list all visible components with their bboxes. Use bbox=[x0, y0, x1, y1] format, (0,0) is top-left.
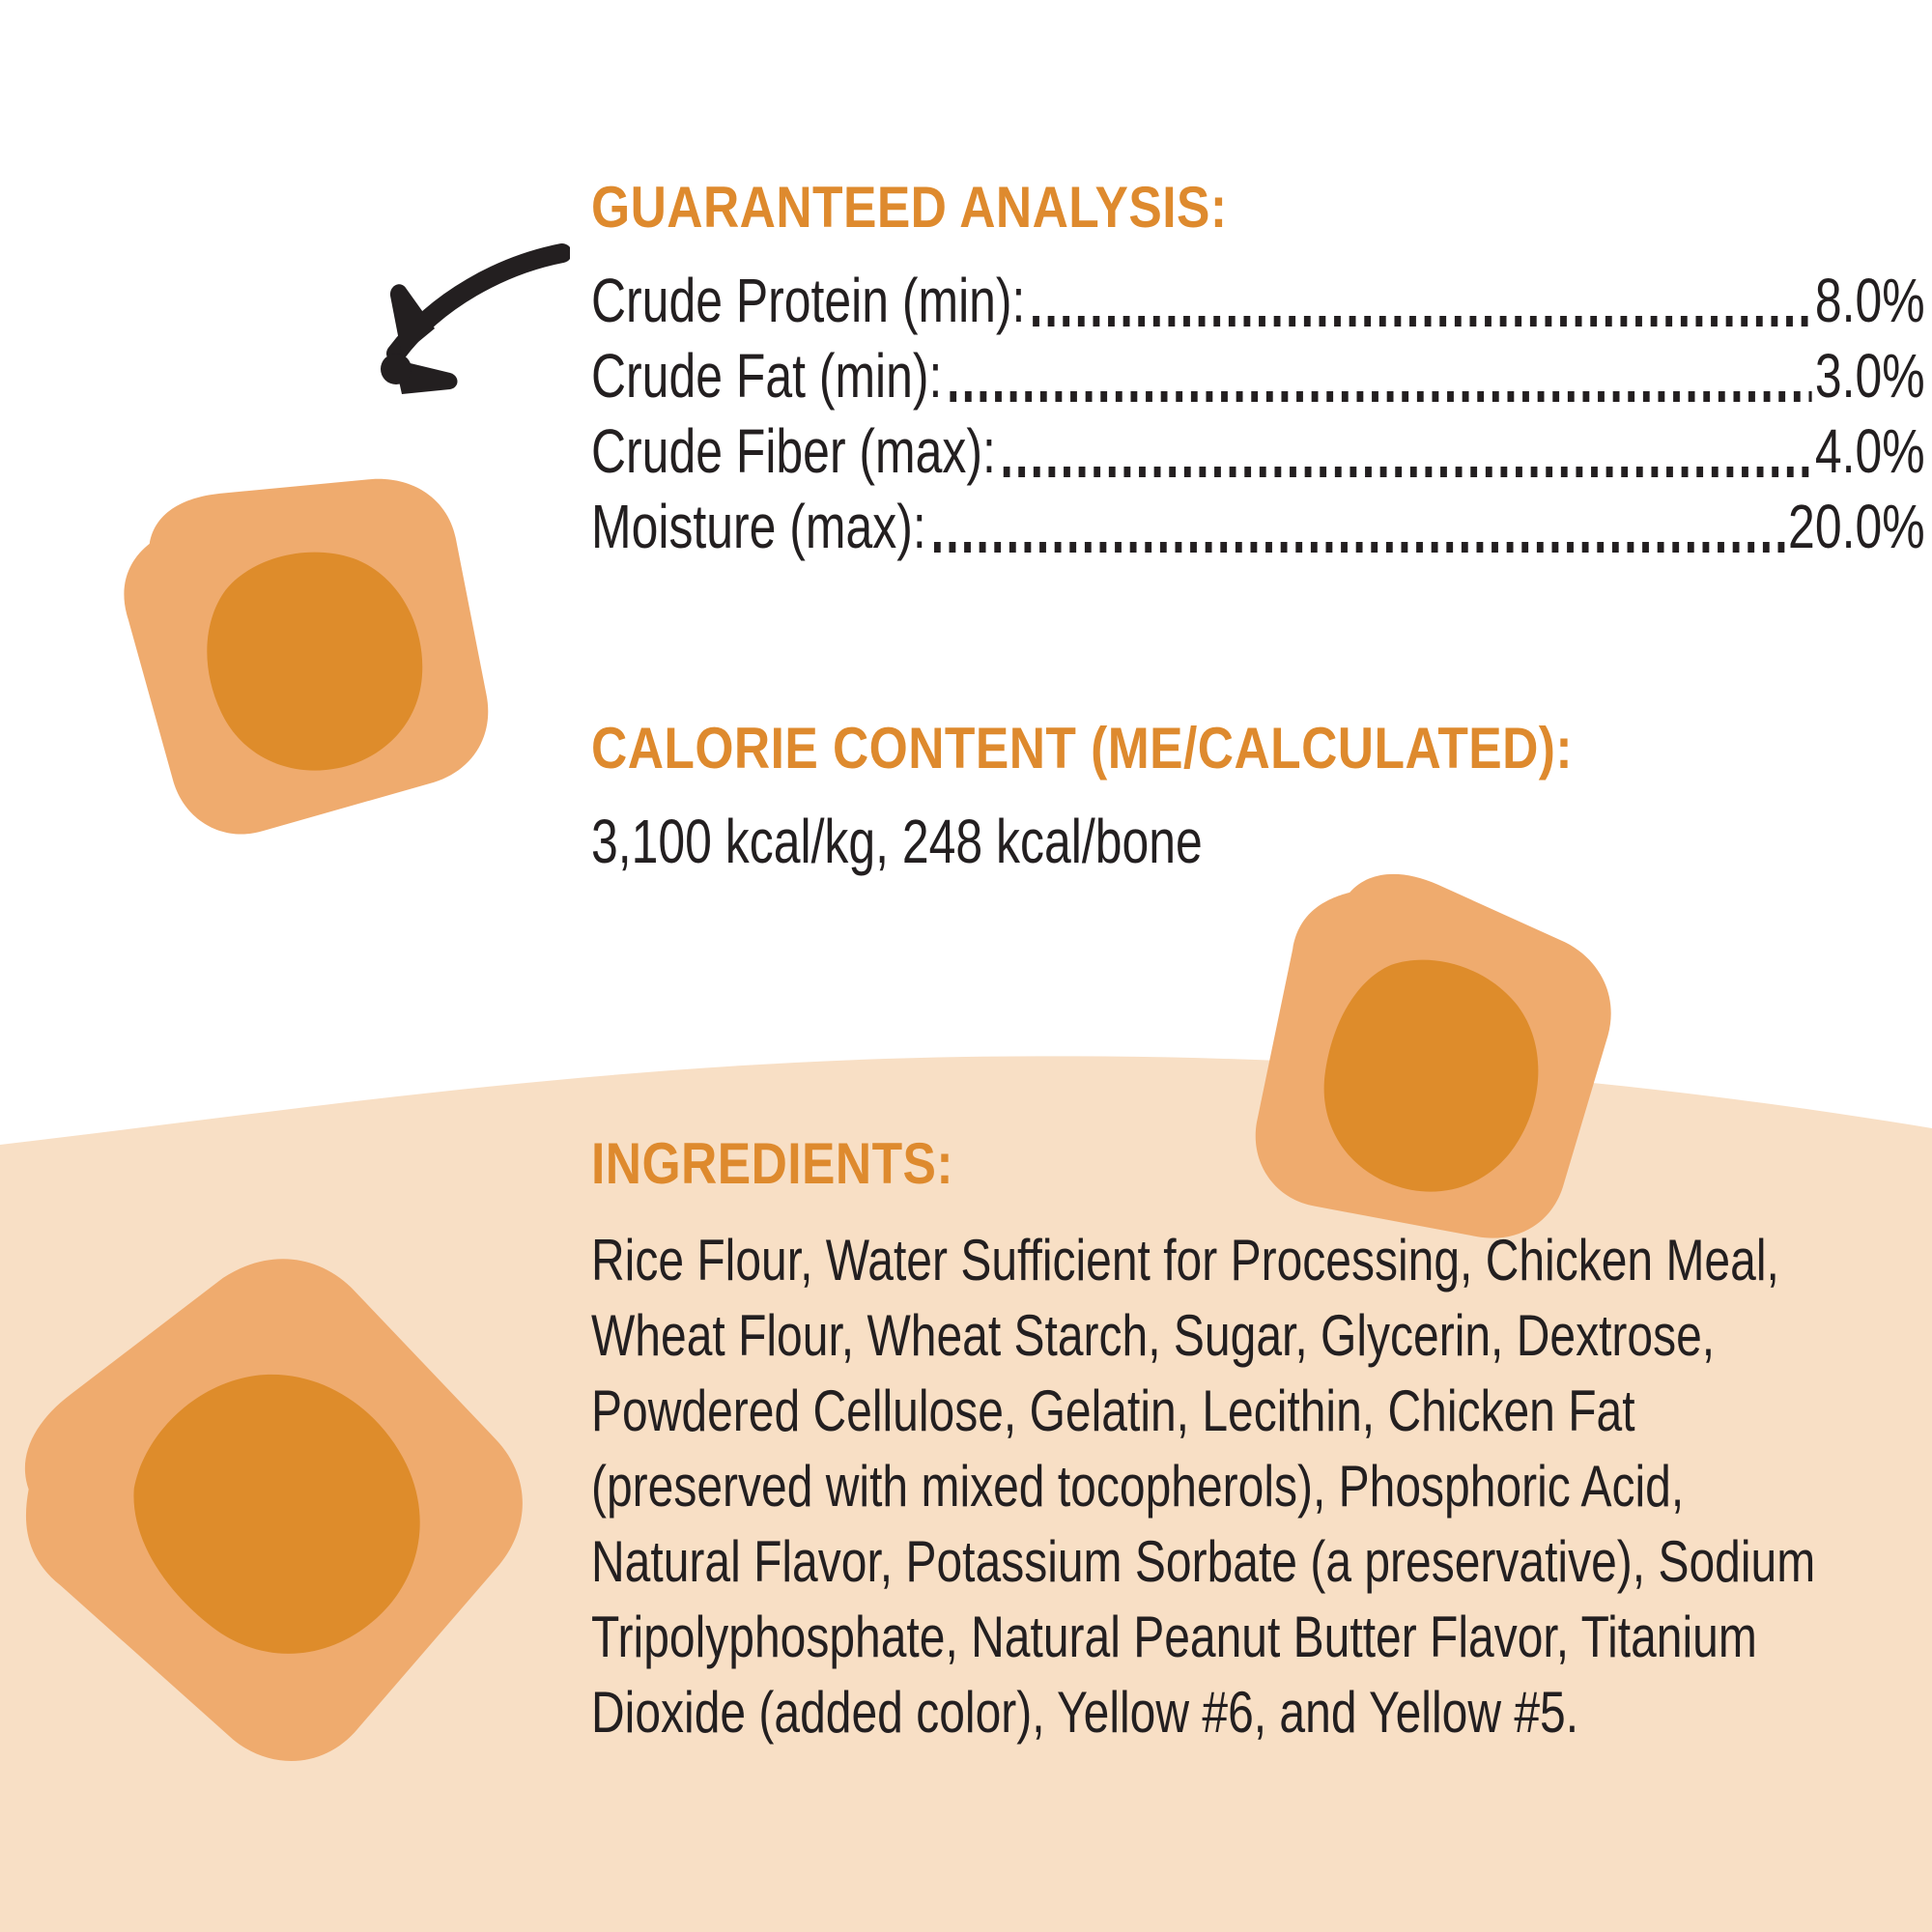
ga-label-crude-fat: Crude Fat (min): bbox=[591, 345, 942, 407]
dot-leader bbox=[1004, 466, 1812, 477]
table-row: Crude Fiber (max): 4.0% bbox=[591, 420, 1925, 496]
calorie-content-section: CALORIE CONTENT (ME/CALCULATED): 3,100 k… bbox=[591, 720, 1905, 872]
curved-arrow-down-left-icon bbox=[309, 240, 570, 433]
ga-value-crude-protein: 8.0% bbox=[1815, 270, 1925, 331]
table-row: Moisture (max): 20.0% bbox=[591, 496, 1925, 571]
dot-leader bbox=[934, 541, 1785, 553]
biscuit-bottom-left bbox=[19, 1256, 560, 1806]
ga-value-crude-fiber: 4.0% bbox=[1815, 420, 1925, 482]
ingredients-text: Rice Flour, Water Sufficient for Process… bbox=[591, 1232, 1905, 1759]
biscuit-top-left bbox=[92, 464, 507, 850]
calorie-content-value: 3,100 kcal/kg, 248 kcal/bone bbox=[591, 810, 1616, 872]
ingredients-line: Tripolyphosphate, Natural Peanut Butter … bbox=[591, 1608, 1642, 1684]
ingredients-line: Dioxide (added color), Yellow #6, and Ye… bbox=[591, 1684, 1642, 1759]
ga-value-crude-fat: 3.0% bbox=[1815, 345, 1925, 407]
ga-label-crude-protein: Crude Protein (min): bbox=[591, 270, 1025, 331]
ingredients-line: Powdered Cellulose, Gelatin, Lecithin, C… bbox=[591, 1382, 1642, 1458]
table-row: Crude Fat (min): 3.0% bbox=[591, 345, 1925, 420]
guaranteed-analysis-section: GUARANTEED ANALYSIS: Crude Protein (min)… bbox=[591, 179, 1876, 571]
ingredients-line: (preserved with mixed tocopherols), Phos… bbox=[591, 1458, 1642, 1533]
guaranteed-analysis-title: GUARANTEED ANALYSIS: bbox=[591, 179, 1696, 237]
guaranteed-analysis-rows: Crude Protein (min): 8.0% Crude Fat (min… bbox=[591, 270, 1876, 571]
dot-leader bbox=[950, 390, 1812, 402]
calorie-content-title: CALORIE CONTENT (ME/CALCULATED): bbox=[591, 720, 1721, 778]
ga-value-moisture: 20.0% bbox=[1788, 496, 1925, 557]
ingredients-title: INGREDIENTS: bbox=[591, 1135, 1721, 1193]
ga-label-crude-fiber: Crude Fiber (max): bbox=[591, 420, 996, 482]
table-row: Crude Protein (min): 8.0% bbox=[591, 270, 1925, 345]
label-panel: GUARANTEED ANALYSIS: Crude Protein (min)… bbox=[0, 0, 1932, 1932]
ingredients-line: Wheat Flour, Wheat Starch, Sugar, Glycer… bbox=[591, 1307, 1642, 1382]
ingredients-line: Rice Flour, Water Sufficient for Process… bbox=[591, 1232, 1642, 1307]
ingredients-section: INGREDIENTS: Rice Flour, Water Sufficien… bbox=[591, 1135, 1905, 1759]
dot-leader bbox=[1033, 315, 1811, 327]
ingredients-line: Natural Flavor, Potassium Sorbate (a pre… bbox=[591, 1533, 1642, 1608]
ga-label-moisture: Moisture (max): bbox=[591, 496, 926, 557]
